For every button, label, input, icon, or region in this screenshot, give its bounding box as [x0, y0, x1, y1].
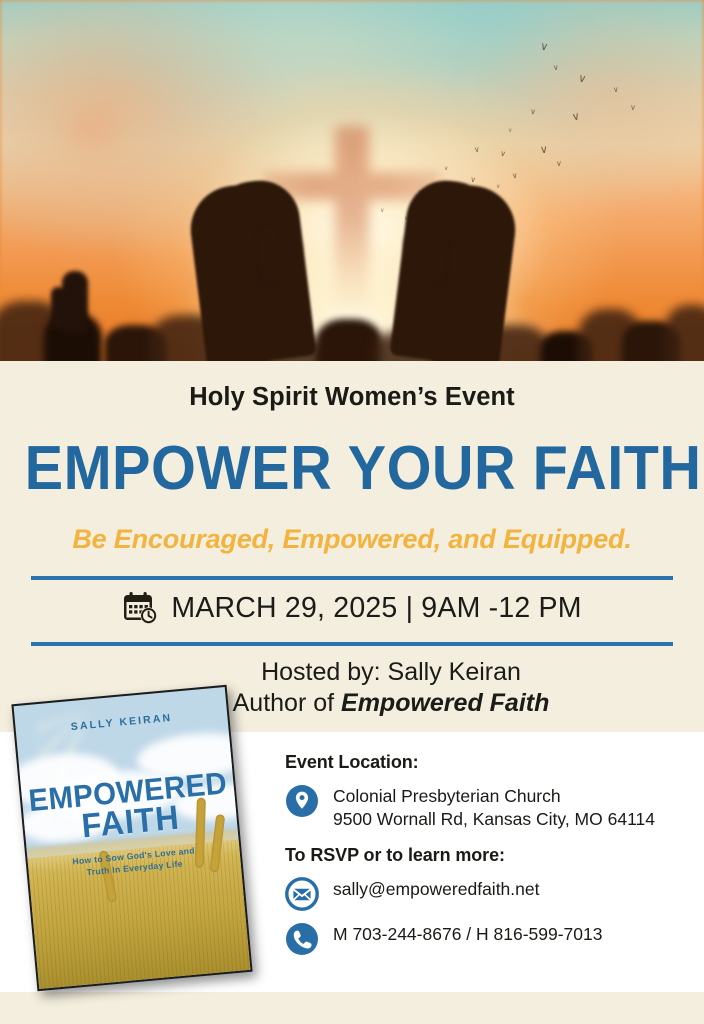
location-heading: Event Location: — [285, 752, 695, 773]
phone-icon — [285, 922, 319, 956]
raised-hand-small-icon — [62, 271, 88, 333]
envelope-icon — [285, 877, 319, 911]
venue-name: Colonial Presbyterian Church — [333, 786, 561, 806]
phone-row[interactable]: M 703-244-8676 / H 816-599-7013 — [285, 921, 695, 956]
location-row: Colonial Presbyterian Church 9500 Wornal… — [285, 783, 695, 831]
hero-image: ∨ ∨ ∨ ∨ ∨ ∨ ∨ ∨ ∨ ∨ ∨ ∨ ∨ ∨ ∨ ∨ ∨ ∨ ∨ ∨ — [0, 0, 704, 361]
dove-silhouette — [58, 102, 124, 158]
event-date-text: MARCH 29, 2025 | 9AM -12 PM — [171, 592, 581, 625]
email-text[interactable]: sally@empoweredfaith.net — [333, 876, 539, 901]
calendar-clock-icon — [122, 590, 158, 626]
location-text: Colonial Presbyterian Church 9500 Wornal… — [333, 783, 655, 831]
rsvp-heading: To RSVP or to learn more: — [285, 845, 695, 866]
page-title: EMPOWER YOUR FAITH — [25, 433, 680, 504]
contact-section: Event Location: Colonial Presbyterian Ch… — [285, 752, 695, 956]
bird-icon: ∨ — [552, 64, 559, 73]
bird-icon: ∨ — [630, 104, 637, 113]
event-eyebrow: Holy Spirit Women’s Event — [0, 383, 704, 412]
map-pin-icon — [285, 784, 319, 818]
phone-text[interactable]: M 703-244-8676 / H 816-599-7013 — [333, 921, 603, 946]
praying-hands-icon — [202, 171, 502, 361]
spacer — [285, 831, 695, 845]
bird-icon: ∨ — [508, 128, 512, 134]
host-author-prefix: Author of — [233, 689, 341, 717]
email-row[interactable]: sally@empoweredfaith.net — [285, 876, 695, 911]
divider-top — [31, 576, 673, 580]
bird-icon: ∨ — [511, 172, 518, 181]
event-flyer: ∨ ∨ ∨ ∨ ∨ ∨ ∨ ∨ ∨ ∨ ∨ ∨ ∨ ∨ ∨ ∨ ∨ ∨ ∨ ∨ — [0, 0, 704, 1024]
event-details-section: Holy Spirit Women’s Event EMPOWER YOUR F… — [0, 361, 704, 732]
host-name-line: Hosted by: Sally Keiran — [78, 657, 704, 688]
bird-icon: ∨ — [539, 145, 548, 157]
footer-strip — [0, 992, 704, 1024]
divider-bottom — [31, 642, 673, 646]
book-cover-image: SALLY KEIRAN EMPOWERED FAITH How to Sow … — [11, 685, 252, 991]
event-date-row: MARCH 29, 2025 | 9AM -12 PM — [0, 590, 704, 626]
bird-icon: ∨ — [556, 160, 562, 168]
bird-icon: ∨ — [613, 86, 620, 94]
event-subheadline: Be Encouraged, Empowered, and Equipped. — [0, 524, 704, 555]
venue-address: 9500 Wornall Rd, Kansas City, MO 64114 — [333, 809, 655, 829]
bird-icon: ∨ — [473, 146, 480, 155]
host-book-title: Empowered Faith — [341, 689, 549, 717]
bird-icon: ∨ — [529, 108, 536, 117]
